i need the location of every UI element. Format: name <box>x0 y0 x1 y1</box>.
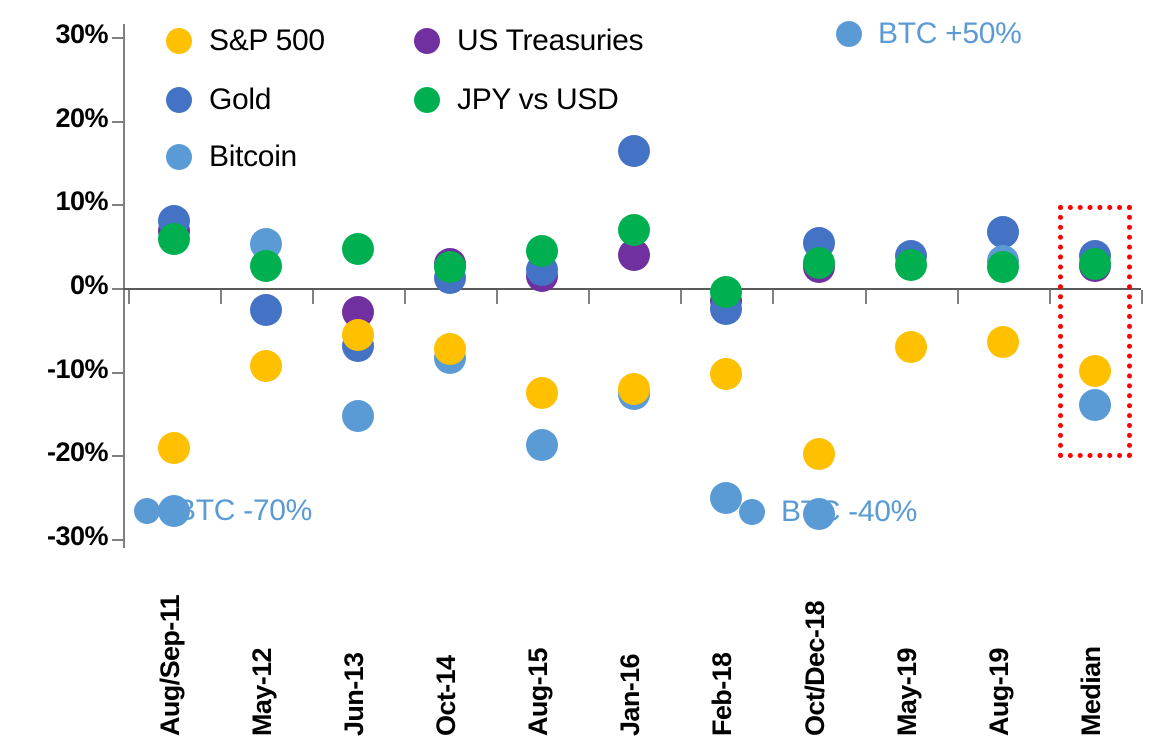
data-point <box>526 377 558 409</box>
data-point <box>158 223 190 255</box>
annotation-dot-icon <box>836 21 862 47</box>
x-axis-tick <box>865 290 867 304</box>
data-point <box>250 350 282 382</box>
x-axis-tick <box>957 290 959 304</box>
legend-swatch-icon <box>166 144 192 170</box>
legend-item-bitcoin[interactable]: Bitcoin <box>166 140 297 174</box>
data-point <box>987 326 1019 358</box>
x-axis-label-text: May-12 <box>247 648 278 736</box>
x-axis-tick <box>496 290 498 304</box>
data-point <box>526 429 558 461</box>
legend-label: US Treasuries <box>457 24 643 58</box>
x-axis-tick <box>312 290 314 304</box>
x-axis-tick <box>772 290 774 304</box>
y-axis-tick <box>112 372 123 374</box>
data-point <box>710 276 742 308</box>
data-point <box>342 319 374 351</box>
y-axis-line <box>123 24 125 548</box>
y-axis-tick <box>112 539 123 541</box>
legend-item-jpy-vs-usd[interactable]: JPY vs USD <box>414 83 619 117</box>
x-axis-label-text: May-19 <box>892 648 923 736</box>
data-point <box>250 294 282 326</box>
x-axis-label-text: Feb-18 <box>707 653 738 736</box>
x-axis-tick <box>128 290 130 304</box>
y-axis-tick <box>112 455 123 457</box>
legend-swatch-icon <box>414 28 440 54</box>
legend-swatch-icon <box>166 87 192 113</box>
y-axis-tick-label-text: -30% <box>47 521 108 552</box>
x-axis-label-text: Jun-13 <box>339 653 370 736</box>
x-axis-tick <box>220 290 222 304</box>
y-axis-tick <box>112 204 123 206</box>
y-axis-tick-label-text: 20% <box>55 103 108 134</box>
data-point <box>1079 248 1111 280</box>
data-point <box>1079 355 1111 387</box>
x-axis-tick <box>588 290 590 304</box>
x-axis-tick <box>1141 290 1143 304</box>
annotation-label: BTC -70% <box>176 494 312 528</box>
y-axis-tick <box>112 288 123 290</box>
y-axis-tick-label: -20% <box>0 437 108 467</box>
data-point <box>618 214 650 246</box>
x-axis-label-text: Jan-16 <box>615 654 646 736</box>
y-axis-tick-label-text: 0% <box>70 270 108 301</box>
legend-item-us-treasuries[interactable]: US Treasuries <box>414 24 643 58</box>
x-axis-label-text: Oct-14 <box>431 656 462 736</box>
data-point <box>1079 389 1111 421</box>
y-axis-tick-label-text: 10% <box>55 186 108 217</box>
y-axis-tick-label-text: 30% <box>55 19 108 50</box>
legend-label: JPY vs USD <box>457 83 619 117</box>
data-point <box>158 432 190 464</box>
x-axis-tick <box>1049 290 1051 304</box>
x-axis-tick <box>404 290 406 304</box>
x-axis-tick <box>680 290 682 304</box>
x-axis-label-text: Oct/Dec-18 <box>800 601 831 736</box>
legend-label: Bitcoin <box>209 140 297 174</box>
annotation-btc-minus-40: BTC -40% <box>739 495 917 529</box>
legend-item-gold[interactable]: Gold <box>166 83 271 117</box>
data-point <box>710 358 742 390</box>
x-axis-label-text: Aug/Sep-11 <box>155 595 186 736</box>
x-axis-label-text: Aug-15 <box>523 648 554 736</box>
data-point <box>342 233 374 265</box>
data-point <box>987 251 1019 283</box>
y-axis-tick-label: 0% <box>0 270 108 300</box>
scatter-chart: 30%20%10%0%-10%-20%-30% Aug/Sep-11May-12… <box>0 0 1151 739</box>
annotation-label: BTC -40% <box>781 495 917 529</box>
y-axis-tick-label: -10% <box>0 354 108 384</box>
data-point <box>342 400 374 432</box>
y-axis-tick-label: 20% <box>0 103 108 133</box>
data-point <box>618 135 650 167</box>
data-point <box>803 438 835 470</box>
data-point <box>250 250 282 282</box>
y-axis-tick-label-text: -10% <box>47 354 108 385</box>
y-axis-tick-label-text: -20% <box>47 437 108 468</box>
annotation-label: BTC +50% <box>878 17 1022 51</box>
y-axis-tick <box>112 37 123 39</box>
legend-label: S&P 500 <box>209 24 325 58</box>
x-axis-label-text: Median <box>1076 647 1107 736</box>
data-point <box>987 216 1019 248</box>
annotation-btc-plus-50: BTC +50% <box>836 17 1022 51</box>
y-axis-tick <box>112 121 123 123</box>
data-point <box>895 249 927 281</box>
zero-reference-line <box>123 288 1141 290</box>
x-axis-label-text: Aug-19 <box>984 648 1015 736</box>
data-point <box>803 247 835 279</box>
annotation-btc-minus-70: BTC -70% <box>134 494 312 528</box>
data-point <box>710 482 742 514</box>
y-axis-tick-label: 10% <box>0 186 108 216</box>
y-axis-tick-label: 30% <box>0 19 108 49</box>
y-axis-tick-label: -30% <box>0 521 108 551</box>
legend-item-s-p-500[interactable]: S&P 500 <box>166 24 325 58</box>
annotation-dot-icon <box>134 498 160 524</box>
legend-label: Gold <box>209 83 271 117</box>
legend-swatch-icon <box>166 28 192 54</box>
annotation-dot-icon <box>739 499 765 525</box>
data-point <box>895 331 927 363</box>
legend-swatch-icon <box>414 87 440 113</box>
